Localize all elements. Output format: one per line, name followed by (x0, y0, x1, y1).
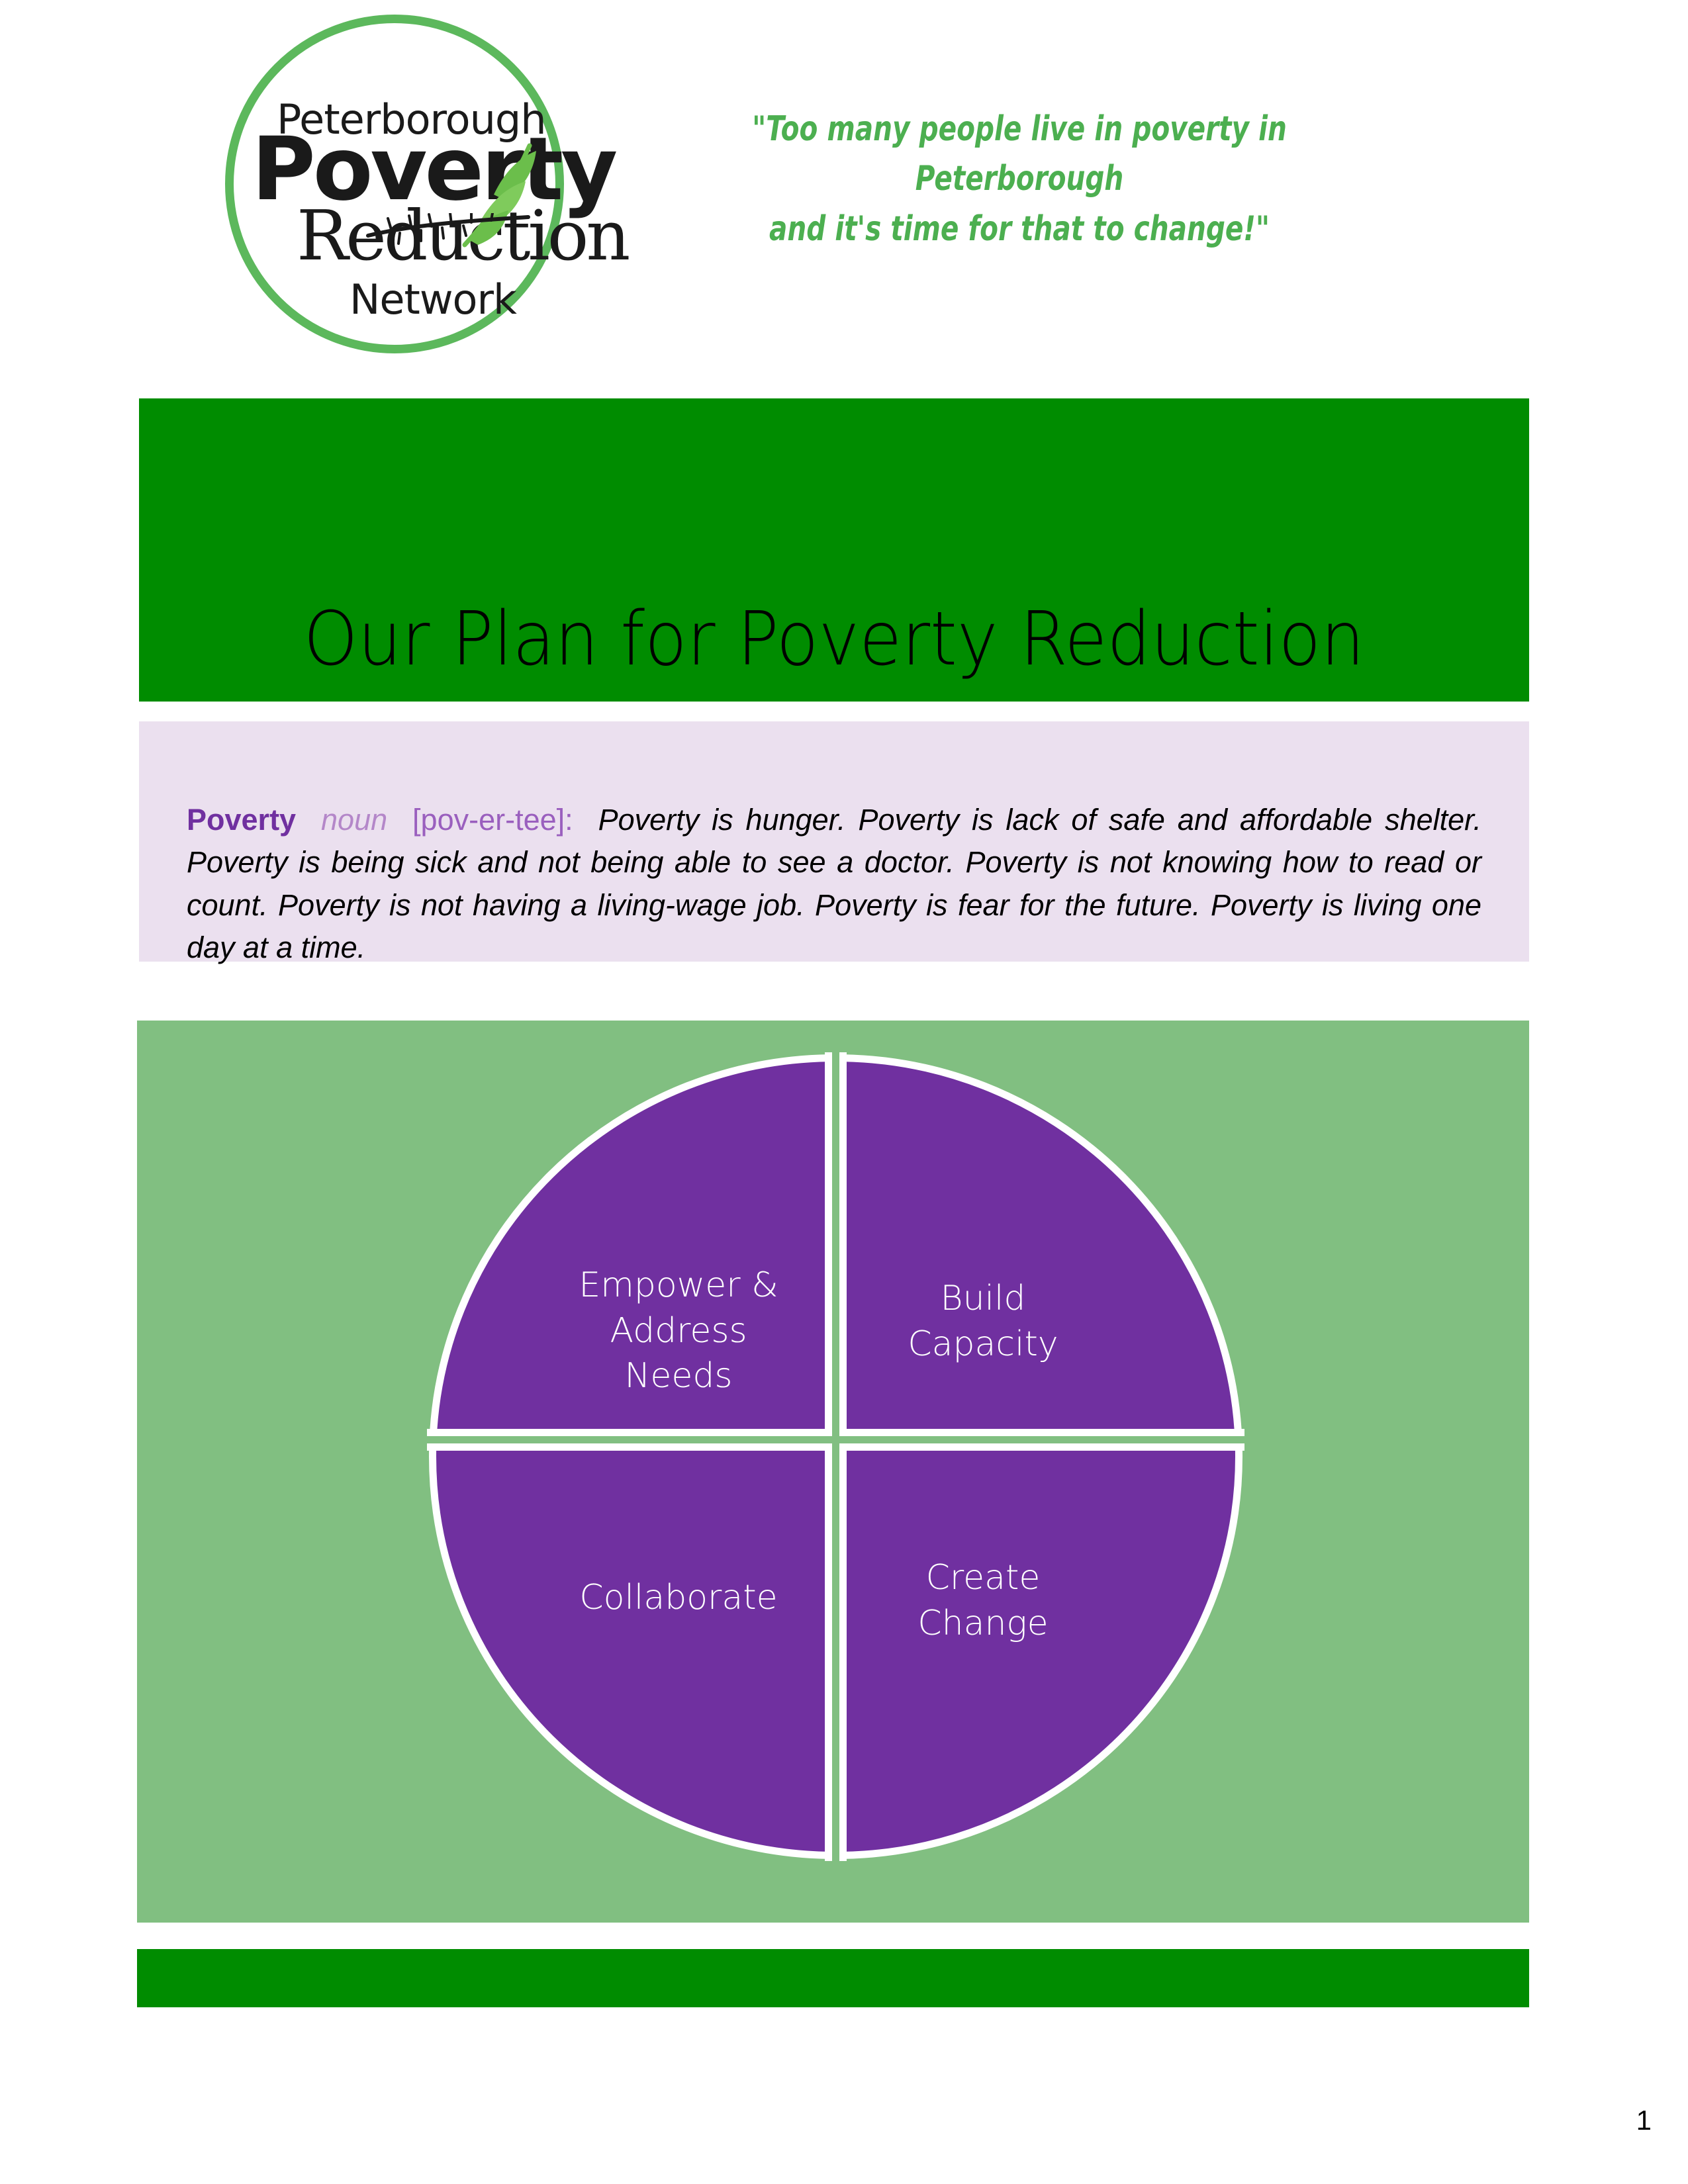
tagline-line-2: and it's time for that to change!" (699, 205, 1339, 254)
organization-tagline: "Too many people live in poverty in Pete… (699, 105, 1339, 254)
four-quadrant-wheel-diagram: Empower & Address Needs Build Capacity C… (427, 1052, 1244, 1861)
definition-part-of-speech: noun (321, 803, 387, 837)
footer-accent-bar (137, 1949, 1529, 2007)
page-title: Our Plan for Poverty Reduction (188, 602, 1481, 676)
divider-gap-vertical (832, 1052, 839, 1861)
strategy-diagram-panel: Empower & Address Needs Build Capacity C… (137, 1021, 1529, 1923)
definition-callout-box: Poverty noun [pov-er-tee]: Poverty is hu… (139, 721, 1529, 962)
thorny-branch-icon (365, 213, 531, 246)
divider-vertical-2 (839, 1052, 847, 1861)
definition-headword: Poverty (187, 803, 296, 837)
organization-logo: Peterborough Poverty Reduction Network (225, 15, 583, 372)
definition-paragraph: Poverty noun [pov-er-tee]: Poverty is hu… (187, 799, 1481, 969)
quadrant-label-collaborate: Collaborate (546, 1575, 811, 1621)
quadrant-label-create-change: Create Change (851, 1555, 1115, 1646)
quadrant-label-build-capacity: Build Capacity (851, 1276, 1115, 1367)
page-header: Peterborough Poverty Reduction Network "… (0, 0, 1688, 381)
divider-vertical (825, 1052, 832, 1861)
wheel-svg (427, 1052, 1244, 1861)
tagline-line-1: "Too many people live in poverty in Pete… (752, 109, 1287, 199)
quadrant-label-empower-address-needs: Empower & Address Needs (546, 1263, 811, 1399)
title-banner: Our Plan for Poverty Reduction (139, 398, 1529, 702)
logo-text-network: Network (350, 279, 516, 320)
definition-pronunciation: [pov-er-tee]: (412, 803, 573, 837)
divider-gap-horizontal (427, 1436, 1244, 1443)
page-number: 1 (1636, 2105, 1652, 2136)
